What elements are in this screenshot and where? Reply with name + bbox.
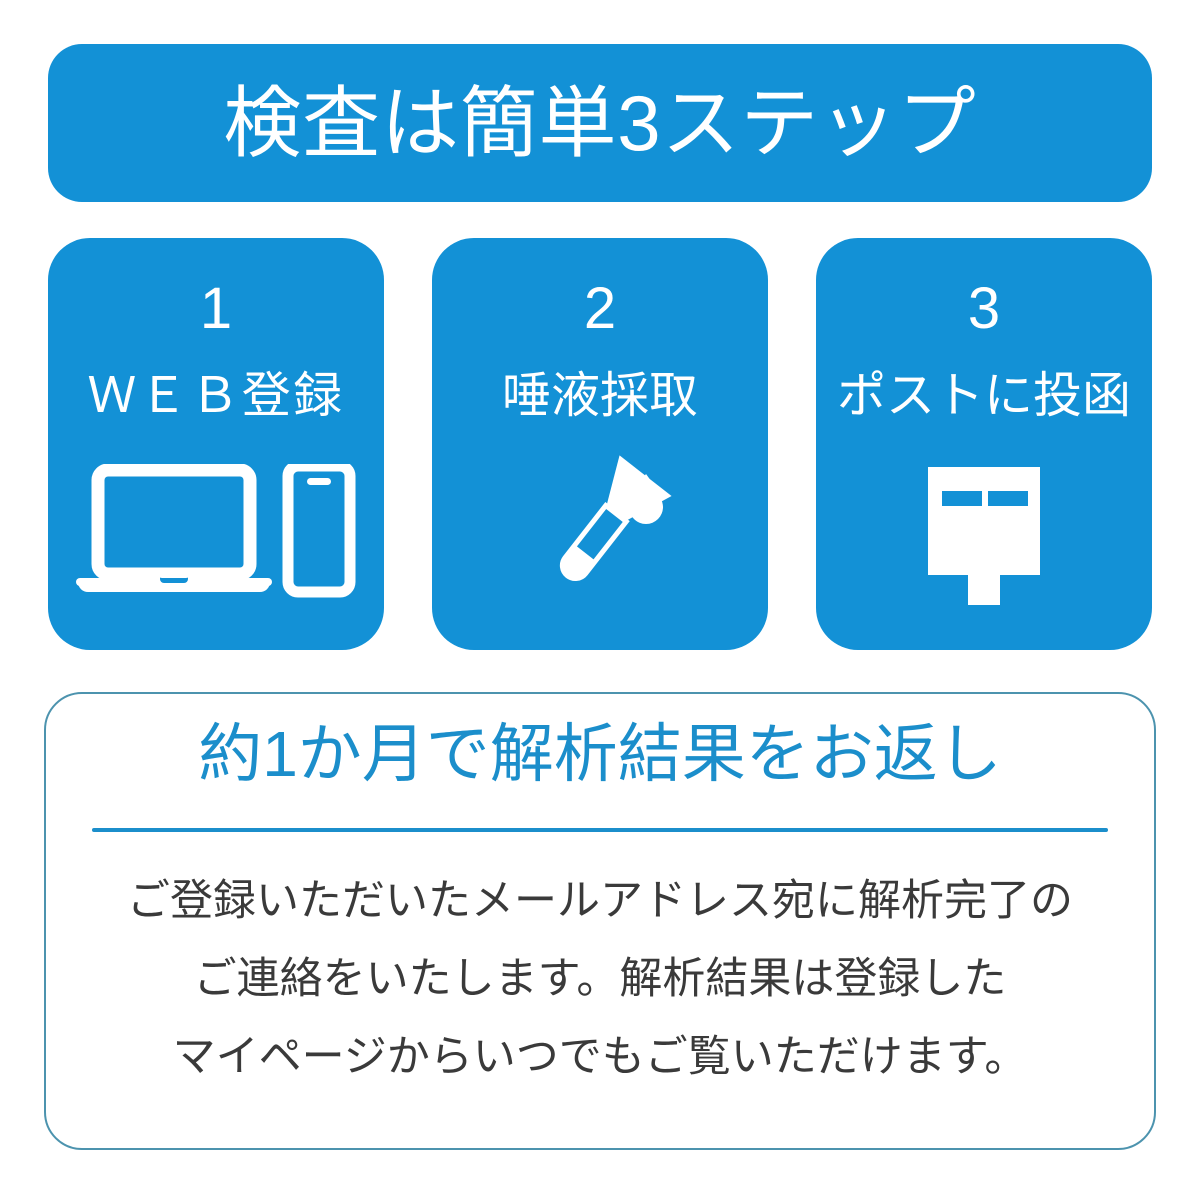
mailbox-icon bbox=[816, 454, 1152, 614]
step-card-1: 1 ＷＥＢ登録 bbox=[48, 238, 384, 650]
step-card-2: 2 唾液採取 bbox=[432, 238, 768, 650]
result-panel: 約1か月で解析結果をお返し ご登録いただいたメールアドレス宛に解析完了の ご連絡… bbox=[44, 692, 1156, 1150]
saliva-collection-tube-icon bbox=[432, 454, 768, 614]
result-heading: 約1か月で解析結果をお返し bbox=[46, 722, 1154, 786]
infographic-page: 検査は簡単3ステップ 1 ＷＥＢ登録 bbox=[0, 0, 1200, 1200]
steps-row: 1 ＷＥＢ登録 bbox=[48, 238, 1152, 650]
step-number-3: 3 bbox=[968, 280, 1000, 338]
result-body: ご登録いただいたメールアドレス宛に解析完了の ご連絡をいたします。解析結果は登録… bbox=[46, 862, 1154, 1096]
header-banner: 検査は簡単3ステップ bbox=[48, 44, 1152, 202]
step-card-3: 3 ポストに投函 bbox=[816, 238, 1152, 650]
result-body-line-2: ご連絡をいたします。解析結果は登録した bbox=[46, 940, 1154, 1018]
step-label-3: ポストに投函 bbox=[837, 372, 1131, 421]
page-title: 検査は簡単3ステップ bbox=[223, 84, 976, 162]
step-label-2: 唾液採取 bbox=[502, 372, 698, 421]
step-number-1: 1 bbox=[200, 280, 232, 338]
step-label-1: ＷＥＢ登録 bbox=[87, 372, 344, 421]
laptop-and-smartphone-icon bbox=[48, 454, 384, 614]
result-body-line-1: ご登録いただいたメールアドレス宛に解析完了の bbox=[46, 862, 1154, 940]
result-divider bbox=[92, 828, 1108, 832]
step-number-2: 2 bbox=[584, 280, 616, 338]
result-body-line-3: マイページからいつでもご覧いただけます。 bbox=[46, 1018, 1154, 1096]
